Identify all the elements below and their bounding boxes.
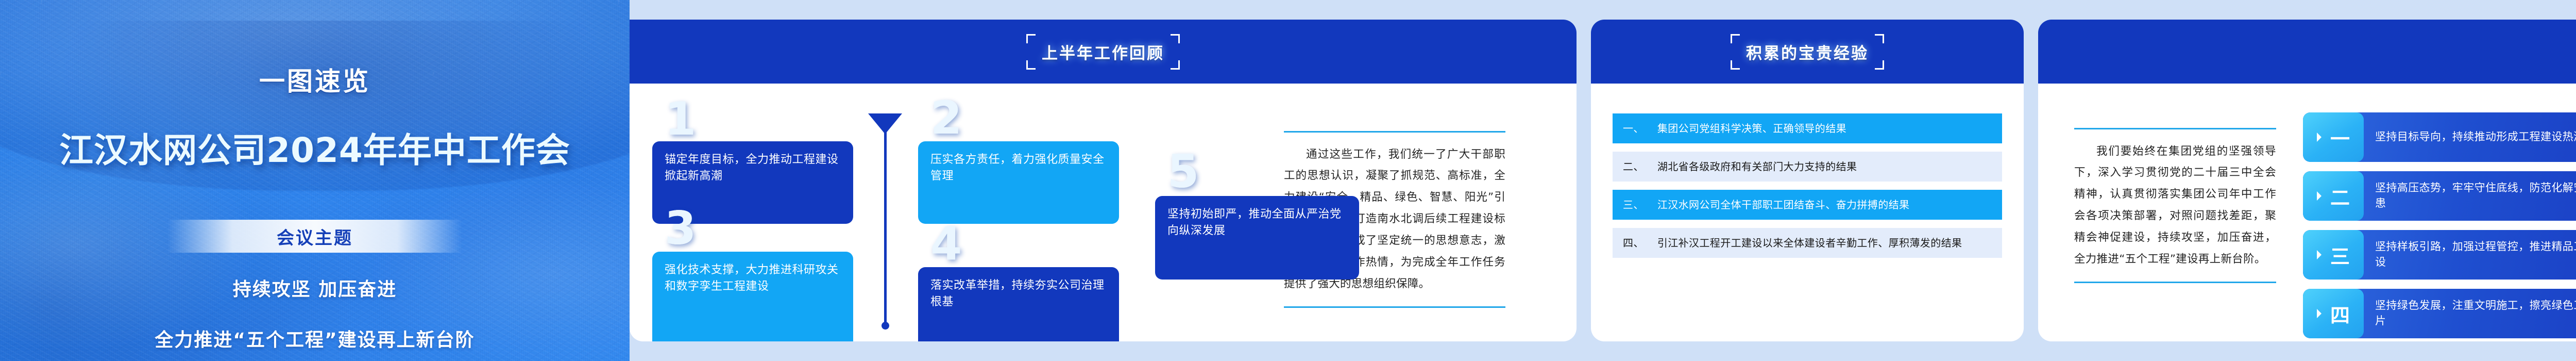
flow-spine-line (884, 128, 887, 325)
review-flow-diagram: 1 锚定年度目标，全力推动工程建设掀起新高潮 2 压实各方责任，着力强化质量安全… (630, 84, 1253, 341)
keywork-item-2-badge: 二 (2303, 171, 2364, 221)
bracket-bottom-right-icon (1875, 60, 1884, 70)
keywork-intro-wrap: 我们要始终在集团党组的坚强领导下，深入学习贯彻党的二十届三中全会精神，认真贯彻落… (2074, 117, 2276, 294)
keywork-item-1-ordinal: 一 (2330, 123, 2350, 152)
panel-review-body: 1 锚定年度目标，全力推动工程建设掀起新高潮 2 压实各方责任，着力强化质量安全… (630, 84, 1577, 341)
meeting-theme-bar: 会议主题 (167, 220, 462, 253)
review-step-5: 5 坚持初始即严，推动全面从严治党向纵深发展 (1155, 196, 1359, 280)
experience-item-1: 一、 集团公司党组科学决策、正确领导的结果 (1613, 113, 2002, 143)
caret-right-icon (2317, 191, 2326, 201)
experience-item-4: 四、 引江补汉工程开工建设以来全体建设者辛勤工作、厚积薄发的结果 (1613, 228, 2002, 258)
caret-right-icon (2317, 309, 2326, 318)
experience-item-3-ordinal: 三、 (1623, 197, 1644, 212)
panel-experience-header: 积累的宝贵经验 (1591, 20, 2024, 84)
experience-item-4-text: 引江补汉工程开工建设以来全体建设者辛勤工作、厚积薄发的结果 (1657, 235, 1962, 251)
keywork-item-4-ordinal: 四 (2330, 300, 2350, 328)
keywork-item-1-badge: 一 (2303, 112, 2364, 162)
review-step-3-number: 3 (665, 210, 697, 247)
review-step-3-text: 强化技术支撑，大力推进科研攻关和数字孪生工程建设 (665, 264, 839, 293)
review-step-2: 2 压实各方责任，着力强化质量安全管理 (918, 141, 1119, 224)
panel-experience-title-wrap: 积累的宝贵经验 (1733, 35, 1882, 69)
panel-review-header: 上半年工作回顾 (630, 20, 1577, 84)
keywork-item-2-ordinal: 二 (2330, 182, 2350, 210)
keywork-item-3: 三 坚持样板引路，加强过程管控，推进精品工程建设 (2303, 230, 2576, 280)
review-step-2-text: 压实各方责任，着力强化质量安全管理 (930, 153, 1105, 183)
bracket-top-right-icon (1875, 34, 1884, 43)
review-step-4-text: 落实改革举措，持续夯实公司治理根基 (930, 279, 1105, 308)
review-step-5-text: 坚持初始即严，推动全面从严治党向纵深发展 (1167, 208, 1342, 237)
review-step-3: 3 强化技术支撑，大力推进科研攻关和数字孪生工程建设 (652, 252, 853, 341)
review-step-2-number: 2 (930, 100, 962, 136)
keywork-columns: 一 坚持目标导向，持续推动形成工程建设热潮 二 坚持高压态势，牢牢守住底线，防范… (2303, 112, 2576, 338)
experience-item-2-text: 湖北省各级政府和有关部门大力支持的结果 (1657, 159, 1857, 174)
keywork-item-4-badge: 四 (2303, 289, 2364, 338)
panel-review-title: 上半年工作回顾 (1042, 44, 1164, 63)
panel-valuable-experience: 积累的宝贵经验 一、 集团公司党组科学决策、正确领导的结果 二、 湖北省各级政府… (1591, 0, 2024, 361)
hero-slogan-secondary: 全力推进“五个工程”建设再上新台阶 (155, 325, 474, 352)
keywork-item-4: 四 坚持绿色发展，注重文明施工，擦亮绿色工程名片 (2303, 289, 2576, 338)
meeting-theme-label: 会议主题 (277, 224, 353, 249)
review-step-5-number: 5 (1167, 154, 1199, 190)
bracket-top-left-icon (1026, 34, 1036, 43)
keywork-item-3-badge: 三 (2303, 230, 2364, 280)
bracket-top-left-icon (1731, 34, 1740, 43)
review-step-4-number: 4 (930, 226, 962, 262)
experience-item-1-ordinal: 一、 (1623, 121, 1644, 136)
panel-review-title-wrap: 上半年工作回顾 (1028, 35, 1178, 69)
panel-experience-body: 一、 集团公司党组科学决策、正确领导的结果 二、 湖北省各级政府和有关部门大力支… (1591, 84, 2024, 341)
hero-slogan-primary: 持续攻坚 加压奋进 (233, 274, 397, 301)
panel-keywork-header: 下半年重点工作 (2038, 20, 2576, 84)
keywork-item-3-text: 坚持样板引路，加强过程管控，推进精品工程建设 (2364, 230, 2576, 280)
review-step-1-text: 锚定年度目标，全力推动工程建设掀起新高潮 (665, 153, 839, 183)
keywork-item-2: 二 坚持高压态势，牢牢守住底线，防范化解安全隐患 (2303, 171, 2576, 221)
panel-experience-title: 积累的宝贵经验 (1746, 44, 1869, 63)
experience-item-2-ordinal: 二、 (1623, 159, 1644, 174)
keywork-item-1-text: 坚持目标导向，持续推动形成工程建设热潮 (2364, 112, 2576, 162)
keywork-intro-text: 我们要始终在集团党组的坚强领导下，深入学习贯彻党的二十届三中全会精神，认真贯彻落… (2074, 128, 2276, 284)
keywork-item-4-text: 坚持绿色发展，注重文明施工，擦亮绿色工程名片 (2364, 289, 2576, 338)
bracket-bottom-left-icon (1731, 60, 1740, 70)
keywork-column-left: 一 坚持目标导向，持续推动形成工程建设热潮 二 坚持高压态势，牢牢守住底线，防范… (2303, 112, 2576, 338)
infographic-stage: 一图速览 江汉水网公司2024年年中工作会 会议主题 持续攻坚 加压奋进 全力推… (0, 0, 2576, 361)
review-step-1-number: 1 (665, 101, 697, 137)
hero-eyebrow: 一图速览 (259, 61, 370, 98)
caret-right-icon (2317, 133, 2326, 142)
page-title: 江汉水网公司2024年年中工作会 (59, 123, 570, 172)
panel-keywork-body: 我们要始终在集团党组的坚强领导下，深入学习贯彻党的二十届三中全会精神，认真贯彻落… (2038, 84, 2576, 341)
bracket-top-right-icon (1171, 34, 1180, 43)
panel-first-half-review: 上半年工作回顾 1 锚定年度目标，全力推动工程建设掀起新高潮 2 压实各方责任，… (630, 0, 1577, 361)
keywork-item-2-text: 坚持高压态势，牢牢守住底线，防范化解安全隐患 (2364, 171, 2576, 221)
experience-item-3: 三、 江汉水网公司全体干部职工团结奋斗、奋力拼搏的结果 (1613, 190, 2002, 220)
keywork-item-3-ordinal: 三 (2330, 241, 2350, 269)
caret-right-icon (2317, 250, 2326, 259)
experience-item-1-text: 集团公司党组科学决策、正确领导的结果 (1657, 121, 1846, 136)
keywork-item-1: 一 坚持目标导向，持续推动形成工程建设热潮 (2303, 112, 2576, 162)
bracket-bottom-left-icon (1026, 60, 1036, 70)
hero-panel: 一图速览 江汉水网公司2024年年中工作会 会议主题 持续攻坚 加压奋进 全力推… (0, 0, 630, 361)
review-step-4: 4 落实改革举措，持续夯实公司治理根基 (918, 267, 1119, 341)
experience-item-3-text: 江汉水网公司全体干部职工团结奋斗、奋力拼搏的结果 (1657, 197, 1910, 212)
bracket-bottom-right-icon (1171, 60, 1180, 70)
experience-item-2: 二、 湖北省各级政府和有关部门大力支持的结果 (1613, 152, 2002, 182)
panel-second-half-key-work: 下半年重点工作 我们要始终在集团党组的坚强领导下，深入学习贯彻党的二十届三中全会… (2038, 0, 2576, 361)
experience-item-4-ordinal: 四、 (1623, 235, 1644, 251)
